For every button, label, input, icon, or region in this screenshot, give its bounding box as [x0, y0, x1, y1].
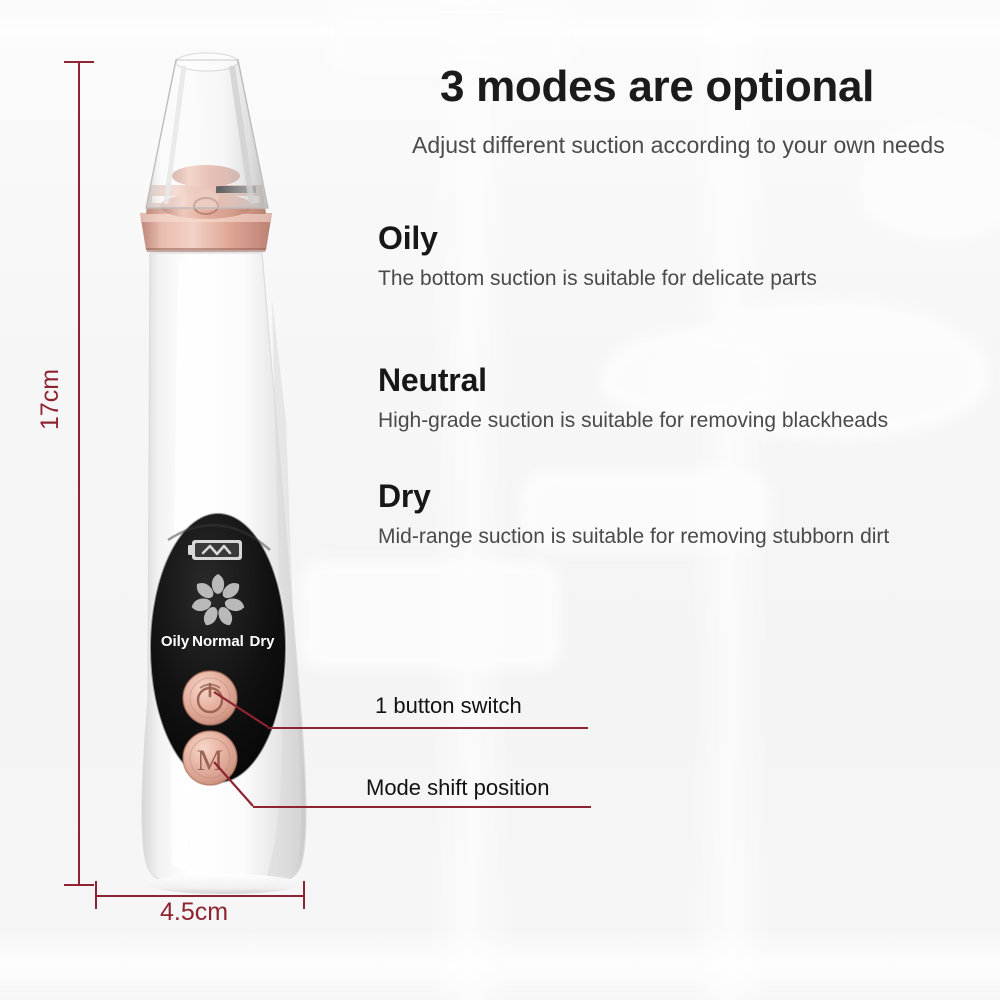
callout-underline: [268, 727, 588, 729]
mode-description: High-grade suction is suitable for remov…: [378, 409, 888, 433]
callout-label-button-switch: 1 button switch: [375, 693, 522, 719]
mode-name: Dry: [378, 478, 889, 515]
mode-block-neutral: Neutral High-grade suction is suitable f…: [378, 362, 888, 433]
height-dimension-label: 17cm: [36, 369, 65, 430]
width-dimension-line: [96, 895, 304, 897]
page-title: 3 modes are optional: [440, 62, 874, 112]
height-dimension-cap-top: [64, 61, 94, 63]
mode-name: Oily: [378, 220, 817, 257]
width-dimension-cap-left: [95, 881, 97, 909]
mode-block-dry: Dry Mid-range suction is suitable for re…: [378, 478, 889, 549]
callout-underline: [253, 806, 591, 808]
callout-label-mode-shift: Mode shift position: [366, 775, 549, 801]
mode-description: The bottom suction is suitable for delic…: [378, 267, 817, 291]
width-dimension-cap-right: [303, 881, 305, 909]
mode-name: Neutral: [378, 362, 888, 399]
mode-description: Mid-range suction is suitable for removi…: [378, 525, 889, 549]
height-dimension-line: [78, 62, 80, 886]
product-infographic: Oily Normal Dry M 1 button switch Mode s…: [0, 0, 1000, 1000]
page-subtitle: Adjust different suction according to yo…: [412, 132, 945, 159]
height-dimension-cap-bottom: [64, 884, 94, 886]
width-dimension-label: 4.5cm: [160, 898, 228, 927]
mode-block-oily: Oily The bottom suction is suitable for …: [378, 220, 817, 291]
